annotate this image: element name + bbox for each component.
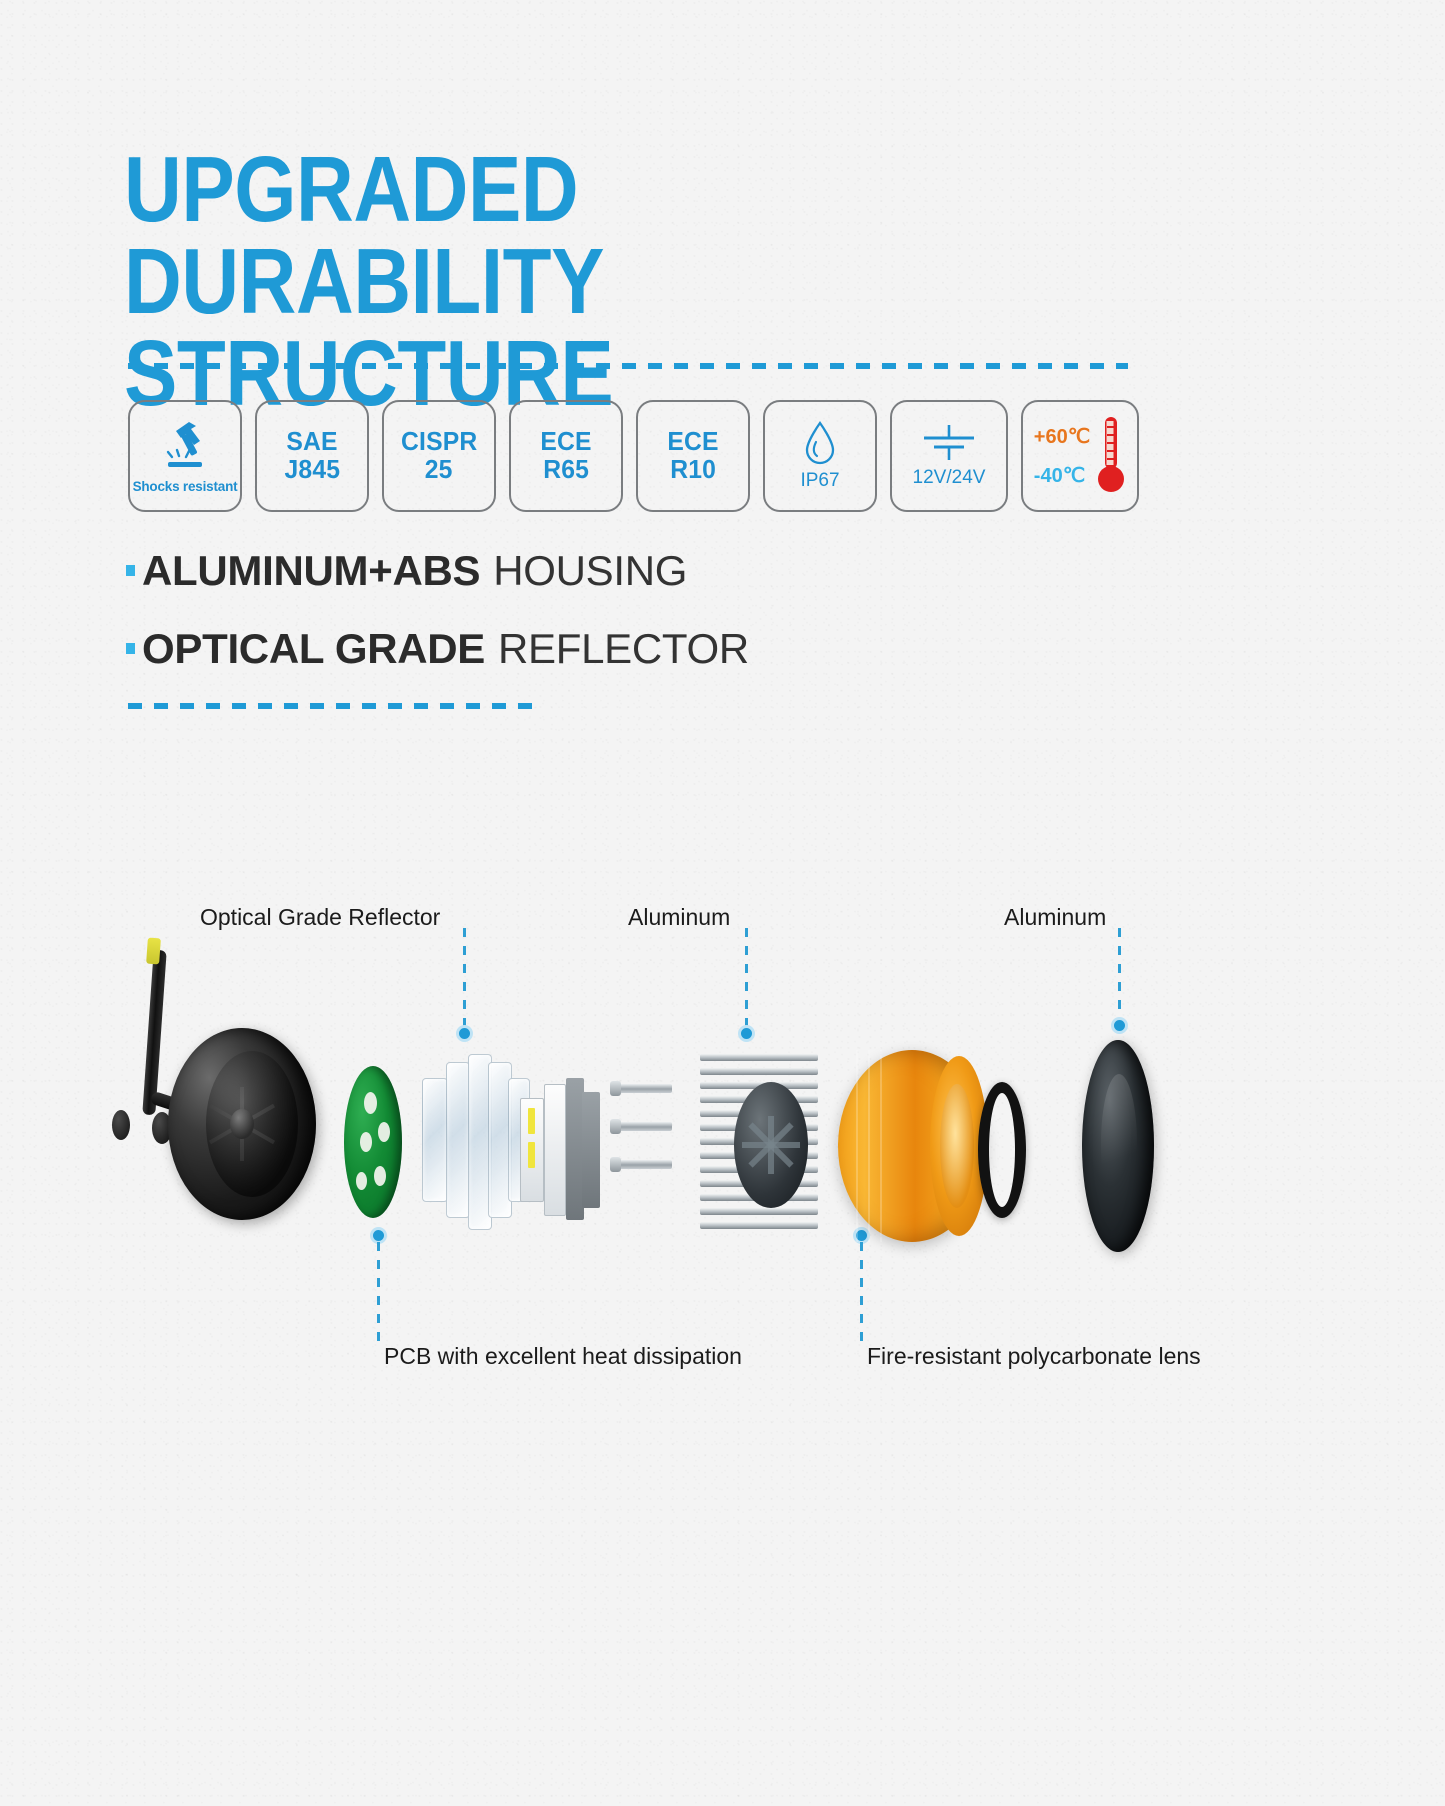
callout-lens: Fire-resistant polycarbonate lens — [867, 1343, 1201, 1370]
feature-reflector: OPTICAL GRADE REFLECTOR — [126, 625, 749, 673]
badge-ip67[interactable]: IP67 — [763, 400, 877, 512]
part-led-holder — [516, 1074, 602, 1224]
feature-housing: ALUMINUM+ABS HOUSING — [126, 547, 687, 595]
callout-optical-grade-reflector: Optical Grade Reflector — [200, 904, 440, 931]
feature-strong-text: ALUMINUM+ABS — [142, 547, 480, 595]
thermometer-icon — [1096, 415, 1126, 497]
divider-bottom — [128, 703, 542, 709]
badge-voltage[interactable]: 12V/24V — [890, 400, 1008, 512]
leader-dot-cover — [1111, 1017, 1128, 1034]
feature-light-text: HOUSING — [493, 547, 687, 595]
water-drop-icon — [803, 420, 837, 466]
badge-ece-r10[interactable]: ECE R10 — [636, 400, 750, 512]
temp-max-label: +60℃ — [1034, 424, 1090, 449]
badge-line-2: J845 — [284, 456, 340, 484]
badge-line-1: SAE — [286, 428, 337, 456]
hammer-icon — [156, 418, 214, 472]
callout-aluminum-cover: Aluminum — [1004, 904, 1106, 931]
leader-dot-reflector — [456, 1025, 473, 1042]
exploded-view-diagram: Optical Grade Reflector Aluminum Aluminu… — [0, 860, 1445, 1560]
leader-line-reflector — [463, 928, 466, 1028]
leader-line-lens — [860, 1242, 863, 1350]
badge-line-1: ECE — [667, 428, 718, 456]
battery-icon — [918, 423, 980, 463]
feature-strong-text: OPTICAL GRADE — [142, 625, 485, 673]
product-infographic: UPGRADED DURABILITY STRUCTURE Shocks res… — [0, 0, 1445, 1806]
feature-light-text: REFLECTOR — [498, 625, 749, 673]
badge-cispr-25[interactable]: CISPR 25 — [382, 400, 496, 512]
part-abs-housing — [168, 1028, 316, 1220]
callout-pcb: PCB with excellent heat dissipation — [384, 1343, 742, 1370]
part-o-ring-gasket — [978, 1082, 1026, 1218]
part-aluminum-heatsink — [700, 1048, 818, 1238]
badge-sae-j845[interactable]: SAE J845 — [255, 400, 369, 512]
badge-ece-r65[interactable]: ECE R65 — [509, 400, 623, 512]
badge-line-2: R65 — [543, 456, 589, 484]
leader-line-cover — [1118, 928, 1121, 1020]
temp-min-label: -40℃ — [1034, 463, 1090, 488]
certification-badge-row: Shocks resistant SAE J845 CISPR 25 ECE R… — [128, 400, 1139, 512]
part-mount-grommet-1 — [112, 1110, 130, 1140]
badge-line-2: R10 — [670, 456, 716, 484]
bullet-square-icon — [126, 643, 135, 654]
leader-line-pcb — [377, 1242, 380, 1350]
leader-dot-heatsink — [738, 1025, 755, 1042]
callout-aluminum-heatsink: Aluminum — [628, 904, 730, 931]
part-pcb-board — [344, 1066, 402, 1218]
part-polycarbonate-lens — [838, 1050, 986, 1242]
leader-line-heatsink — [745, 928, 748, 1028]
badge-caption: Shocks resistant — [133, 479, 238, 494]
part-aluminum-cover — [1082, 1040, 1154, 1252]
badge-caption: IP67 — [800, 470, 839, 492]
badge-temperature[interactable]: +60℃ -40℃ — [1021, 400, 1139, 512]
badge-line-1: ECE — [540, 428, 591, 456]
badge-shocks-resistant[interactable]: Shocks resistant — [128, 400, 242, 512]
badge-line-1: CISPR — [401, 428, 477, 456]
page-title: UPGRADED DURABILITY STRUCTURE — [124, 143, 1070, 419]
badge-line-2: 25 — [425, 456, 453, 484]
bullet-square-icon — [126, 565, 135, 576]
badge-caption: 12V/24V — [913, 467, 986, 489]
divider-top — [128, 363, 1128, 369]
